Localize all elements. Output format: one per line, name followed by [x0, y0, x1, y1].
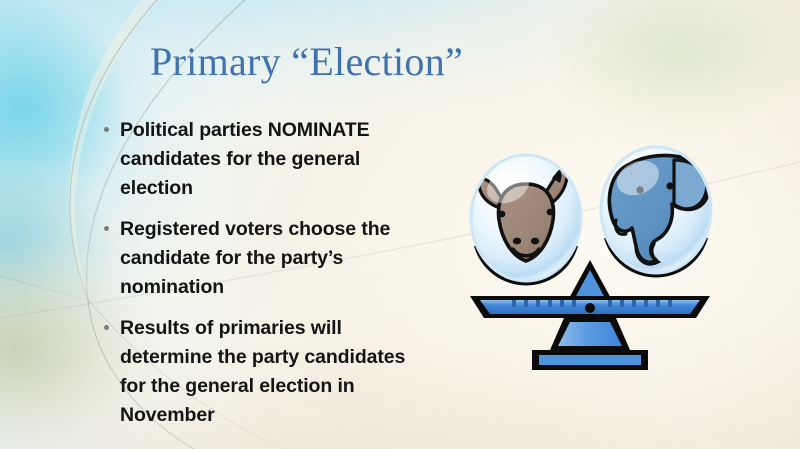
slide-body-bullet-list: Political parties NOMINATE candidates fo… — [100, 116, 430, 430]
scale-beam — [470, 296, 710, 318]
bullet-item-text: Results of primaries will determine the … — [120, 317, 405, 426]
right-bubble-elephant — [601, 147, 711, 273]
slide-canvas: Primary “Election” Political parties NOM… — [0, 0, 800, 449]
scale-pedestal — [550, 318, 630, 350]
bullet-item: Registered voters choose the candidate f… — [100, 215, 430, 302]
bullet-dot-icon — [104, 226, 109, 231]
bullet-item-text: Political parties NOMINATE candidates fo… — [120, 119, 370, 199]
bullet-item: Political parties NOMINATE candidates fo… — [100, 116, 430, 203]
scale-fulcrum — [568, 260, 612, 300]
slide-title: Primary “Election” — [150, 38, 670, 85]
left-bubble-donkey — [471, 155, 581, 281]
scale-base — [532, 350, 648, 370]
bullet-item: Results of primaries will determine the … — [100, 314, 430, 430]
bullet-dot-icon — [104, 127, 109, 132]
bullet-item-text: Registered voters choose the candidate f… — [120, 218, 390, 298]
balance-scale-illustration — [460, 128, 720, 378]
bullet-dot-icon — [104, 325, 109, 330]
